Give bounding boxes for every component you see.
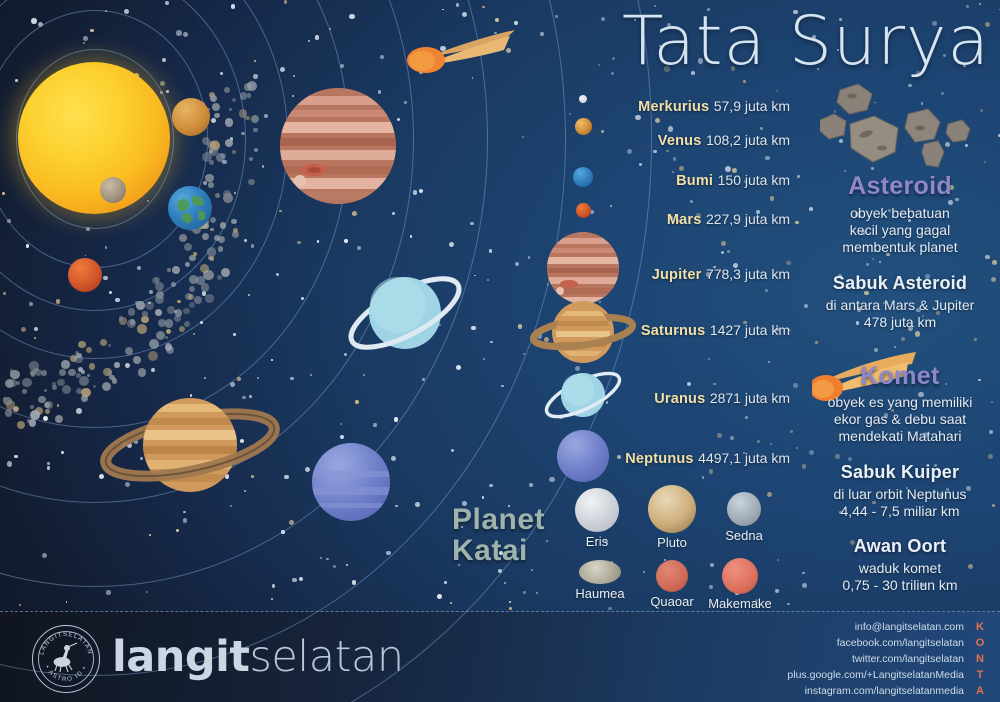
contact-item[interactable]: twitter.com/langitselatan	[787, 652, 964, 668]
langitselatan-logo: LANGITSELATAN • ASTRO ID •	[32, 625, 100, 693]
dwarf-planet-item: Eris	[565, 488, 629, 549]
dwarf-planet-label: Pluto	[640, 535, 704, 550]
planet-row: Saturnus 1427 juta km	[500, 322, 798, 340]
planet-name: Neptunus	[625, 451, 693, 467]
contact-item[interactable]: info@langitselatan.com	[787, 620, 964, 636]
planet-row: Jupiter 778,3 juta km	[500, 266, 798, 284]
planet-row: Mars 227,9 juta km	[500, 211, 798, 229]
dwarf-planet-item: Sedna	[712, 492, 776, 543]
planet-distance: 2871 juta km	[710, 390, 790, 406]
planet-name: Jupiter	[652, 267, 702, 283]
kontak-letter: O	[972, 636, 988, 652]
contact-list: info@langitselatan.comfacebook.com/langi…	[787, 620, 964, 700]
diagram-neptune-bands	[312, 443, 390, 521]
sabuk-kuiper-heading: Sabuk Kuiper	[800, 462, 1000, 483]
planet-distance: 57,9 juta km	[714, 98, 790, 114]
planet-name: Mars	[667, 212, 702, 228]
brand-light: selatan	[249, 632, 403, 682]
planet-distance: 4497,1 juta km	[698, 450, 790, 466]
dwarf-planet-label: Haumea	[568, 586, 632, 601]
diagram-mars	[68, 258, 102, 292]
logo-emblem-icon: LANGITSELATAN • ASTRO ID •	[33, 626, 99, 692]
dwarf-planet-icon-pluto	[648, 485, 696, 533]
dwarf-planet-label: Quaoar	[640, 594, 704, 609]
kontak-letter: A	[972, 684, 988, 700]
diagram-jupiter-bands	[280, 88, 396, 204]
dwarf-planet-item: Makemake	[708, 558, 772, 611]
planet-name: Uranus	[654, 391, 705, 407]
kontak-letter: N	[972, 652, 988, 668]
sun	[18, 62, 170, 214]
sabuk-kuiper-description: di luar orbit Neptunus4,44 - 7,5 miliar …	[800, 486, 1000, 520]
komet-description: obyek es yang memilikiekor gas & debu sa…	[800, 394, 1000, 445]
diagram-venus	[172, 98, 210, 136]
contact-item[interactable]: facebook.com/langitselatan	[787, 636, 964, 652]
brand-bold: langit	[112, 632, 249, 682]
planet-row: Neptunus 4497,1 juta km	[500, 450, 798, 468]
planet-name: Venus	[658, 133, 702, 149]
planet-row: Bumi 150 juta km	[500, 172, 798, 190]
dwarf-planet-icon-makemake	[722, 558, 758, 594]
awan-oort-description: waduk komet0,75 - 30 triliun km	[800, 560, 1000, 594]
diagram-mercury	[100, 177, 126, 203]
planet-name: Merkurius	[638, 99, 709, 115]
dwarf-planet-label: Eris	[565, 534, 629, 549]
diagram-uranus	[340, 258, 470, 368]
brand-wordmark: langitselatan	[112, 632, 404, 682]
diagram-earth-landmass	[168, 186, 212, 230]
kontak-letter: K	[972, 620, 988, 636]
dwarf-planet-icon-sedna	[727, 492, 761, 526]
contact-item[interactable]: plus.google.com/+LangitselatanMedia	[787, 668, 964, 684]
planet-distance: 108,2 juta km	[706, 132, 790, 148]
planet-distance: 778,3 juta km	[706, 266, 790, 282]
dwarf-planet-icon-quaoar	[656, 560, 688, 592]
kontak-letter: T	[972, 668, 988, 684]
kontak-label: KONTAK	[972, 620, 988, 702]
dwarf-planet-label: Sedna	[712, 528, 776, 543]
dwarf-planet-icon-haumea	[579, 560, 621, 584]
dwarf-planet-item: Quaoar	[640, 560, 704, 609]
planet-name: Bumi	[676, 173, 713, 189]
dwarf-planet-icon-eris	[575, 488, 619, 532]
komet-heading: Komet	[800, 362, 1000, 391]
dwarf-planet-label: Makemake	[708, 596, 772, 611]
planet-row: Merkurius 57,9 juta km	[500, 98, 798, 116]
dwarf-planet-heading: Planet Katai	[452, 505, 545, 566]
right-info-column-2: Komet obyek es yang memilikiekor gas & d…	[800, 0, 1000, 595]
dwarf-planet-item: Pluto	[640, 485, 704, 550]
planet-row: Venus 108,2 juta km	[500, 132, 798, 150]
planet-distance: 150 juta km	[718, 172, 790, 188]
dwarf-heading-line2: Katai	[452, 536, 545, 567]
planet-distance: 1427 juta km	[710, 322, 790, 338]
dwarf-heading-line1: Planet	[452, 505, 545, 536]
infographic-canvas: Tata Surya Merkurius 57,9 juta kmVenus 1…	[0, 0, 1000, 702]
planet-distance: 227,9 juta km	[706, 211, 790, 227]
planet-name: Saturnus	[641, 323, 705, 339]
awan-oort-heading: Awan Oort	[800, 536, 1000, 557]
footer-divider	[0, 611, 1000, 612]
contact-item[interactable]: instagram.com/langitselatanmedia	[787, 684, 964, 700]
comet-icon	[400, 10, 550, 80]
planet-row: Uranus 2871 juta km	[500, 390, 798, 408]
diagram-saturn	[100, 370, 280, 520]
dwarf-planet-item: Haumea	[568, 560, 632, 601]
